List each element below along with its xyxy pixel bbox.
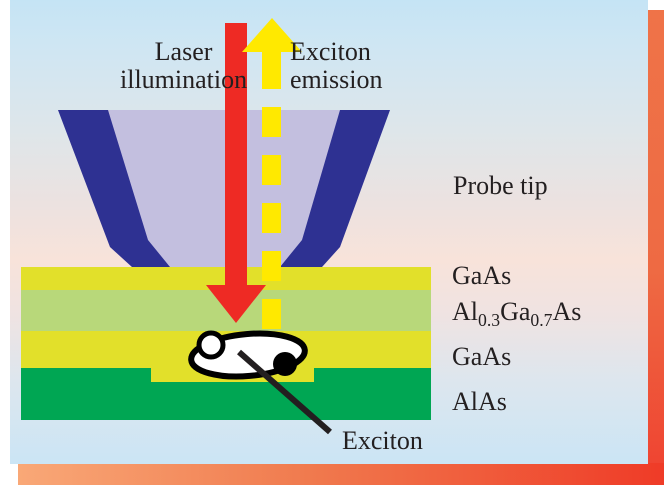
emission-label-line2: emission: [290, 66, 382, 94]
laser-label-line2: illumination: [120, 66, 247, 94]
probe-tip-label: Probe tip: [453, 172, 548, 200]
diagram-canvas: Laser illumination Exciton emission Prob…: [10, 0, 648, 464]
figure-root: Laser illumination Exciton emission Prob…: [0, 0, 664, 485]
frame-shadow-bottom: [18, 463, 664, 485]
algaas-part-as: As: [553, 297, 582, 326]
algaas-sub-ga: 0.7: [530, 310, 552, 330]
layer-label-algaas: Al0.3Ga0.7As: [452, 298, 581, 330]
frame-shadow-right: [648, 10, 664, 485]
laser-illumination-label: Laser illumination: [120, 38, 247, 93]
exciton-emission-label: Exciton emission: [290, 38, 382, 93]
layer-label-gaas-top: GaAs: [452, 262, 511, 290]
algaas-part-al: Al: [452, 297, 478, 326]
layer-label-gaas-well: GaAs: [452, 343, 511, 371]
emission-label-line1: Exciton: [290, 38, 382, 66]
laser-label-line1: Laser: [120, 38, 247, 66]
algaas-part-ga: Ga: [500, 297, 530, 326]
exciton-label: Exciton: [342, 427, 423, 455]
algaas-sub-al: 0.3: [478, 310, 500, 330]
layer-label-alas: AlAs: [452, 388, 507, 416]
